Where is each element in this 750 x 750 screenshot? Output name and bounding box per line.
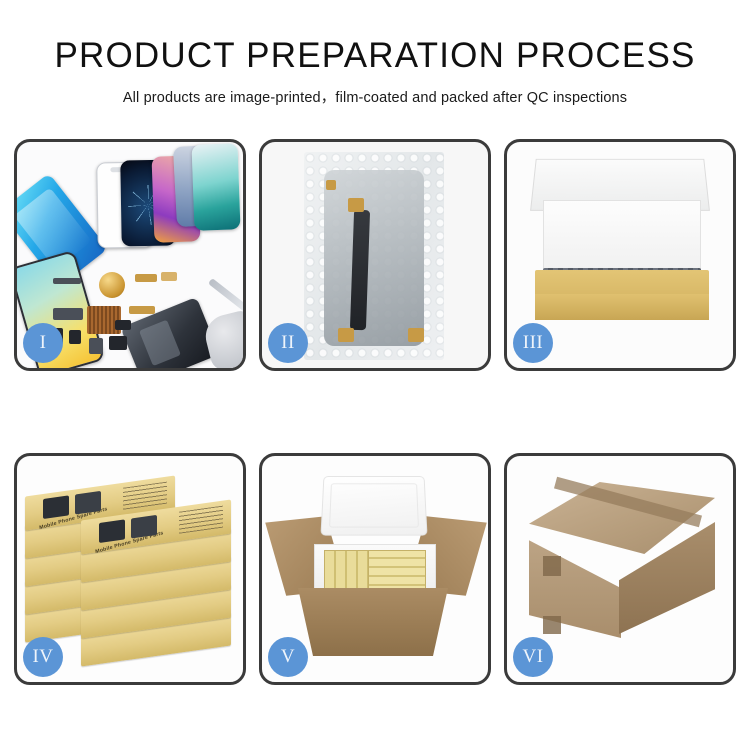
step-panel-3: III	[504, 139, 736, 371]
cable-tape-corner	[326, 180, 336, 190]
gold-contact-component	[161, 272, 177, 281]
teal-phone-screen-image	[192, 143, 241, 231]
page-title: PRODUCT PREPARATION PROCESS	[0, 38, 750, 75]
carton-tab-lower	[543, 616, 561, 634]
process-step-grid: I II	[14, 139, 736, 685]
step-badge-2: II	[268, 323, 308, 363]
box-spec-lines-left	[123, 482, 167, 510]
wrapped-screen-image	[324, 170, 424, 346]
earpiece-component	[53, 278, 81, 284]
camera-module-component	[69, 330, 81, 344]
step-badge-5: V	[268, 637, 308, 677]
antenna-flex-component	[129, 306, 155, 314]
infographic-page: PRODUCT PREPARATION PROCESS All products…	[0, 0, 750, 750]
carton-tab-upper	[543, 556, 561, 576]
button-flex-component	[115, 320, 131, 330]
page-subtitle: All products are image-printed，film-coat…	[0, 86, 750, 107]
header: PRODUCT PREPARATION PROCESS All products…	[0, 0, 750, 107]
shipping-carton-open-image	[298, 588, 448, 656]
vibrator-component	[109, 336, 127, 350]
cable-tape-bottom-right	[408, 328, 424, 342]
kraft-box-front-image	[535, 294, 709, 320]
foam-sheet-image	[543, 200, 701, 276]
box-stack-image: Mobile Phone Spare Parts Mobile Phone Sp…	[25, 478, 237, 668]
kraft-boxes-in-foam-right	[368, 550, 426, 594]
speaker-component-icon	[99, 272, 125, 298]
step-badge-3: III	[513, 323, 553, 363]
tweezers-icon	[208, 278, 243, 313]
step-badge-1: I	[23, 323, 63, 363]
step-panel-5: V	[259, 453, 491, 685]
cable-tape-bottom-left	[338, 328, 354, 342]
cable-tape-top	[348, 198, 364, 212]
bracket-component	[53, 308, 83, 320]
flex-cable-component	[135, 274, 157, 282]
step-badge-6: VI	[513, 637, 553, 677]
step-badge-4: IV	[23, 637, 63, 677]
step-panel-2: II	[259, 139, 491, 371]
sim-tray-component	[89, 338, 103, 354]
box-spec-lines-right	[179, 506, 223, 534]
step-panel-4: Mobile Phone Spare Parts Mobile Phone Sp…	[14, 453, 246, 685]
bubble-wrap-bag-image	[304, 152, 444, 360]
step-panel-1: I	[14, 139, 246, 371]
step-panel-6: VI	[504, 453, 736, 685]
foam-cooler-lid-image	[320, 476, 427, 536]
